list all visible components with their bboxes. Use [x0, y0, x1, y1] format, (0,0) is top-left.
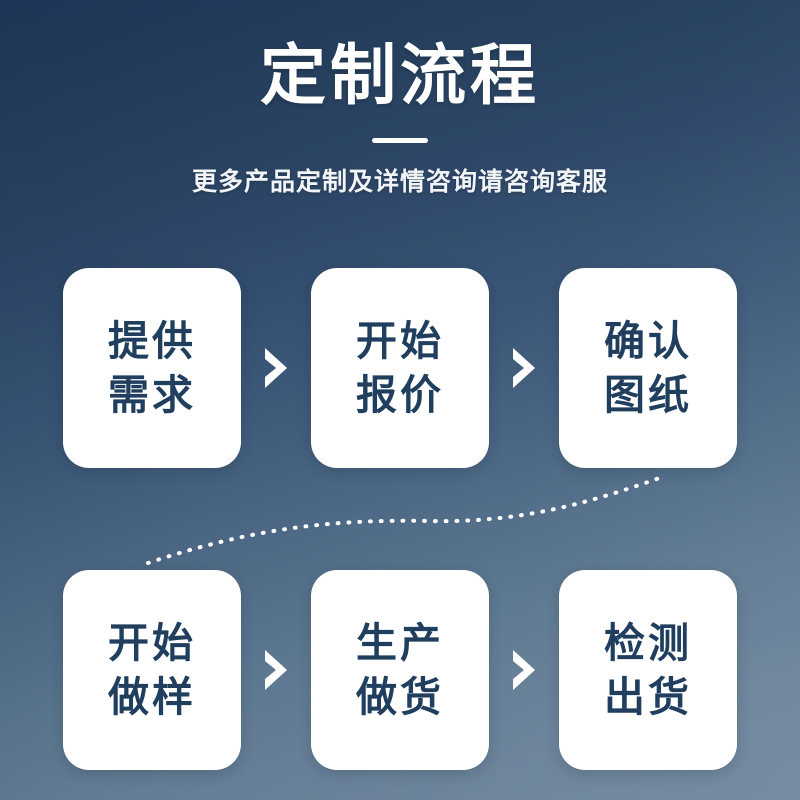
flow-step-label-line1: 生产 — [356, 616, 444, 670]
chevron-right-icon — [241, 570, 311, 770]
divider-bar-icon — [372, 138, 428, 143]
dotted-curve-connector-icon — [0, 455, 800, 585]
flow-step-label-line2: 报价 — [356, 368, 444, 422]
chevron-right-icon — [489, 268, 559, 468]
flow-step-label-line2: 需求 — [108, 368, 196, 422]
page-title: 定制流程 — [0, 0, 800, 114]
flow-step-label-line1: 开始 — [356, 314, 444, 368]
chevron-right-icon — [241, 268, 311, 468]
title-divider-wrap — [0, 130, 800, 140]
flow-step-label-line1: 提供 — [108, 314, 196, 368]
flow-step-card-6[interactable]: 检测 出货 — [559, 570, 737, 770]
flow-row-2: 开始 做样 生产 做货 检测 出货 — [0, 570, 800, 770]
flow-step-label-line1: 开始 — [108, 616, 196, 670]
flow-step-card-2[interactable]: 开始 报价 — [311, 268, 489, 468]
chevron-right-icon — [489, 570, 559, 770]
custom-process-poster: 定制流程 更多产品定制及详情咨询请咨询客服 提供 需求 开始 报价 确认 图 — [0, 0, 800, 800]
flow-step-label-line1: 确认 — [604, 314, 692, 368]
flow-step-label-line2: 做样 — [108, 670, 196, 724]
flow-row-1: 提供 需求 开始 报价 确认 图纸 — [0, 268, 800, 468]
flow-step-label-line2: 做货 — [356, 670, 444, 724]
flow-step-label-line2: 出货 — [604, 670, 692, 724]
flow-step-card-3[interactable]: 确认 图纸 — [559, 268, 737, 468]
flow-step-label-line2: 图纸 — [604, 368, 692, 422]
page-subtitle: 更多产品定制及详情咨询请咨询客服 — [0, 140, 800, 198]
flow-step-card-4[interactable]: 开始 做样 — [63, 570, 241, 770]
flow-step-label-line1: 检测 — [604, 616, 692, 670]
poster-header: 定制流程 更多产品定制及详情咨询请咨询客服 — [0, 0, 800, 198]
flow-step-card-5[interactable]: 生产 做货 — [311, 570, 489, 770]
flow-step-card-1[interactable]: 提供 需求 — [63, 268, 241, 468]
